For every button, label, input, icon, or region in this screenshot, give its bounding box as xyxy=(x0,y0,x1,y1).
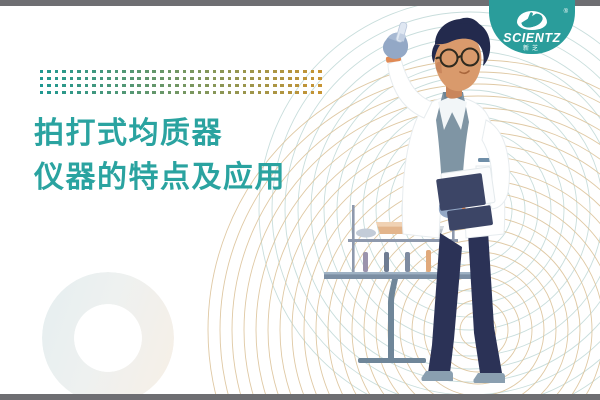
soft-gradient-ring xyxy=(42,272,174,400)
dot xyxy=(85,70,89,74)
dot xyxy=(250,91,254,95)
dot xyxy=(160,77,164,81)
dot xyxy=(175,77,179,81)
dot xyxy=(235,84,239,88)
dot xyxy=(198,77,202,81)
dot xyxy=(168,70,172,74)
dot xyxy=(115,91,119,95)
dot xyxy=(228,70,232,74)
dot xyxy=(288,77,292,81)
dot xyxy=(311,77,315,81)
dot xyxy=(145,91,149,95)
dot xyxy=(115,70,119,74)
dot xyxy=(243,84,247,88)
dot xyxy=(280,77,284,81)
dot xyxy=(235,70,239,74)
dot xyxy=(137,70,141,74)
dot xyxy=(205,84,209,88)
dot xyxy=(220,84,224,88)
dot xyxy=(220,91,224,95)
dot xyxy=(55,70,59,74)
dot xyxy=(213,84,217,88)
dot xyxy=(100,77,104,81)
dot xyxy=(311,70,315,74)
dot xyxy=(228,84,232,88)
dot xyxy=(295,91,299,95)
dot xyxy=(47,84,51,88)
dot xyxy=(250,84,254,88)
dot xyxy=(265,70,269,74)
dot xyxy=(40,84,44,88)
dot xyxy=(183,84,187,88)
dot xyxy=(145,84,149,88)
dot xyxy=(107,70,111,74)
bottom-rail xyxy=(0,394,600,400)
dot xyxy=(55,91,59,95)
dot xyxy=(250,70,254,74)
dot xyxy=(85,84,89,88)
dot xyxy=(183,91,187,95)
dot xyxy=(183,77,187,81)
dot xyxy=(70,84,74,88)
dot xyxy=(92,70,96,74)
dot xyxy=(55,84,59,88)
dot xyxy=(122,91,126,95)
dot xyxy=(152,77,156,81)
dot xyxy=(280,91,284,95)
dot xyxy=(198,91,202,95)
dot xyxy=(295,84,299,88)
dot xyxy=(228,91,232,95)
dot xyxy=(183,70,187,74)
dot xyxy=(115,84,119,88)
dot xyxy=(318,77,322,81)
dot xyxy=(160,84,164,88)
dot xyxy=(130,77,134,81)
dot xyxy=(303,91,307,95)
dot xyxy=(243,70,247,74)
dot xyxy=(85,77,89,81)
dot xyxy=(152,70,156,74)
dot xyxy=(40,70,44,74)
dot xyxy=(175,70,179,74)
dot xyxy=(273,77,277,81)
lab-scientist-illustration xyxy=(300,0,600,400)
dot xyxy=(130,91,134,95)
dot xyxy=(198,84,202,88)
dot xyxy=(280,84,284,88)
dot xyxy=(85,91,89,95)
dot xyxy=(47,91,51,95)
scientz-swoosh-emblem xyxy=(517,11,547,30)
dot xyxy=(152,84,156,88)
dot xyxy=(318,91,322,95)
dot xyxy=(92,77,96,81)
dot xyxy=(273,70,277,74)
dot xyxy=(280,70,284,74)
dot xyxy=(160,70,164,74)
dot xyxy=(190,91,194,95)
dot xyxy=(40,91,44,95)
dot xyxy=(250,77,254,81)
dot xyxy=(130,70,134,74)
page-title: 拍打式均质器 仪器的特点及应用 xyxy=(34,112,286,199)
dot xyxy=(190,70,194,74)
dot xyxy=(115,77,119,81)
scientist-figure xyxy=(383,18,509,383)
dot xyxy=(107,84,111,88)
dot xyxy=(198,70,202,74)
dot xyxy=(273,91,277,95)
dot xyxy=(243,77,247,81)
dot xyxy=(205,77,209,81)
dot xyxy=(62,70,66,74)
dot xyxy=(258,91,262,95)
dot xyxy=(62,77,66,81)
scientz-logo[interactable]: ® SCIENTZ 新芝 xyxy=(489,6,575,54)
dot xyxy=(47,77,51,81)
dot xyxy=(130,84,134,88)
dot xyxy=(258,84,262,88)
dot xyxy=(243,91,247,95)
dot xyxy=(137,91,141,95)
dot xyxy=(145,77,149,81)
dot xyxy=(122,84,126,88)
dot xyxy=(77,84,81,88)
dot xyxy=(213,77,217,81)
logo-chinese-name: 新芝 xyxy=(489,43,575,52)
dot xyxy=(205,70,209,74)
dot xyxy=(92,91,96,95)
dot xyxy=(265,84,269,88)
dot xyxy=(168,84,172,88)
dot-matrix-gradient xyxy=(38,68,324,96)
dot xyxy=(92,84,96,88)
dot xyxy=(175,91,179,95)
dot xyxy=(288,70,292,74)
dot xyxy=(100,84,104,88)
dot xyxy=(122,77,126,81)
dot xyxy=(318,84,322,88)
dot xyxy=(77,77,81,81)
dot xyxy=(175,84,179,88)
dot xyxy=(213,91,217,95)
dot xyxy=(107,77,111,81)
dot xyxy=(205,91,209,95)
dot xyxy=(70,91,74,95)
banner-canvas: 拍打式均质器 仪器的特点及应用 ® SCIENTZ 新芝 xyxy=(0,0,600,400)
dot xyxy=(152,91,156,95)
dot xyxy=(288,84,292,88)
dot xyxy=(303,77,307,81)
dot xyxy=(100,70,104,74)
dot xyxy=(168,91,172,95)
dot xyxy=(220,70,224,74)
dot xyxy=(258,77,262,81)
dot xyxy=(295,77,299,81)
dot xyxy=(168,77,172,81)
dot xyxy=(265,77,269,81)
registered-mark-icon: ® xyxy=(564,9,568,15)
dot xyxy=(62,84,66,88)
dot xyxy=(145,70,149,74)
dot xyxy=(77,91,81,95)
dot xyxy=(235,91,239,95)
dot xyxy=(40,77,44,81)
dot xyxy=(258,70,262,74)
dot xyxy=(228,77,232,81)
dot xyxy=(107,91,111,95)
dot xyxy=(265,91,269,95)
dot xyxy=(311,84,315,88)
dot xyxy=(190,84,194,88)
dot xyxy=(303,84,307,88)
dot xyxy=(220,77,224,81)
dot xyxy=(190,77,194,81)
dot xyxy=(55,77,59,81)
dot xyxy=(295,70,299,74)
dot xyxy=(137,77,141,81)
dot xyxy=(122,70,126,74)
dot xyxy=(137,84,141,88)
dot xyxy=(318,70,322,74)
dot xyxy=(77,70,81,74)
dot xyxy=(47,70,51,74)
dot xyxy=(303,70,307,74)
dot xyxy=(100,91,104,95)
dot xyxy=(235,77,239,81)
dot xyxy=(311,91,315,95)
dot xyxy=(273,84,277,88)
dot xyxy=(70,77,74,81)
dot xyxy=(213,70,217,74)
dot xyxy=(288,91,292,95)
dot xyxy=(62,91,66,95)
dot xyxy=(160,91,164,95)
dot xyxy=(70,70,74,74)
